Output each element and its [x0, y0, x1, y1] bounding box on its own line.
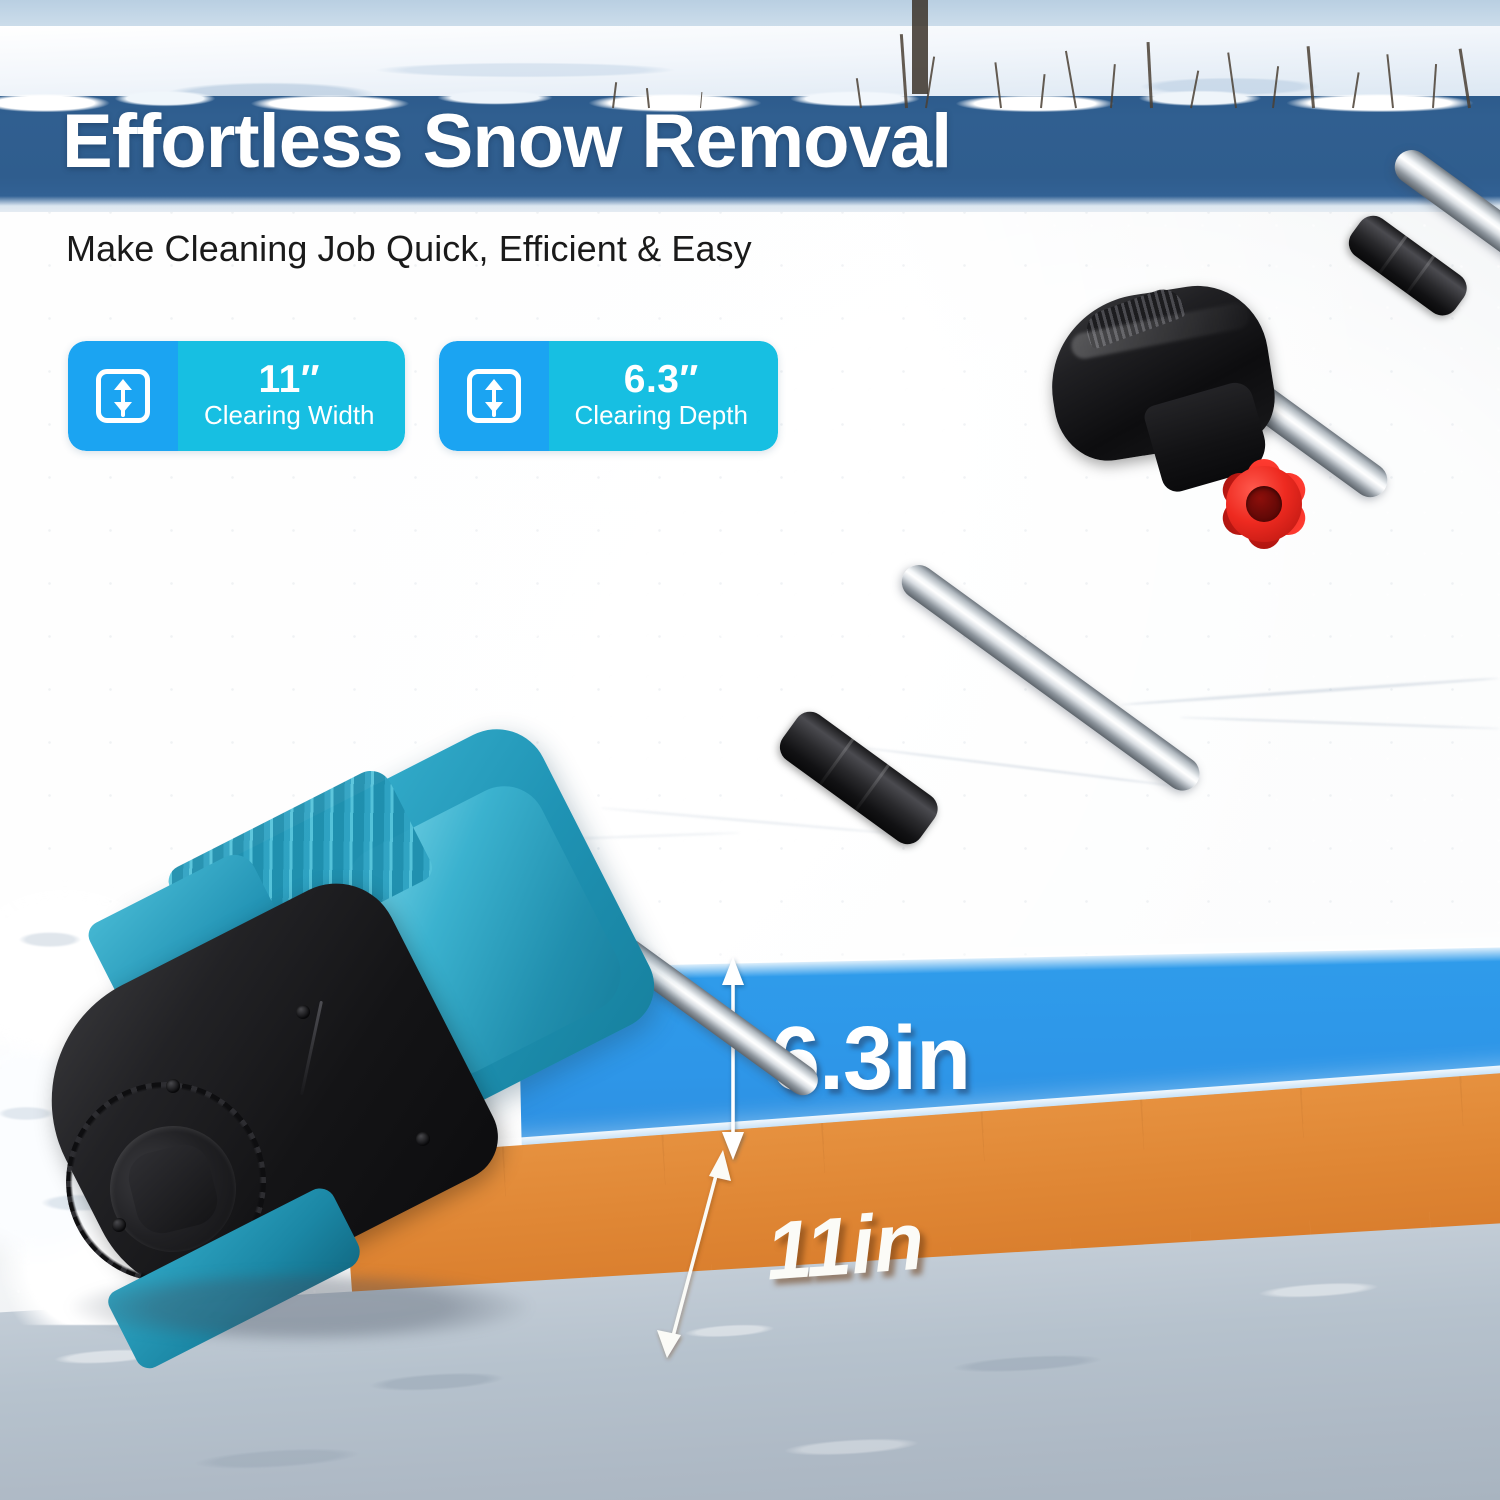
- width-measurement-label: 11in: [763, 1195, 927, 1300]
- handle-lock-knob[interactable]: [1218, 458, 1310, 550]
- cover-screw: [296, 1005, 310, 1019]
- cover-screw: [112, 1218, 126, 1232]
- width-dimension-arrow: [657, 1150, 731, 1358]
- cover-screw: [416, 1132, 430, 1146]
- product-shadow: [70, 1270, 530, 1344]
- cover-screw: [166, 1079, 180, 1093]
- depth-dimension-arrow: [722, 957, 744, 1160]
- product-marketing-image: Effortless Snow Removal Make Cleaning Jo…: [0, 0, 1500, 1500]
